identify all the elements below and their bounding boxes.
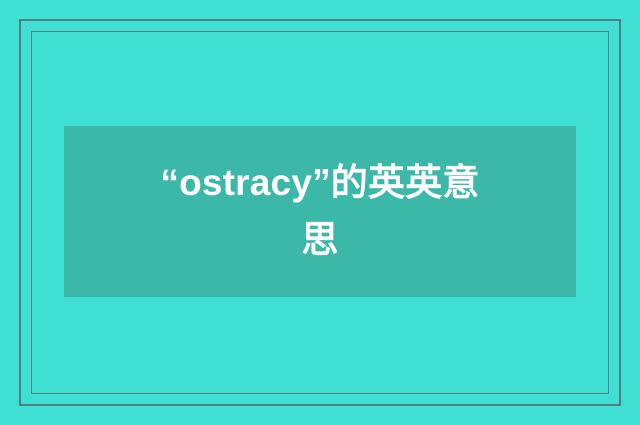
- title-panel: “ostracy”的英英意思: [64, 126, 576, 297]
- page-title: “ostracy”的英英意思: [155, 155, 485, 267]
- card-canvas: “ostracy”的英英意思: [0, 0, 640, 425]
